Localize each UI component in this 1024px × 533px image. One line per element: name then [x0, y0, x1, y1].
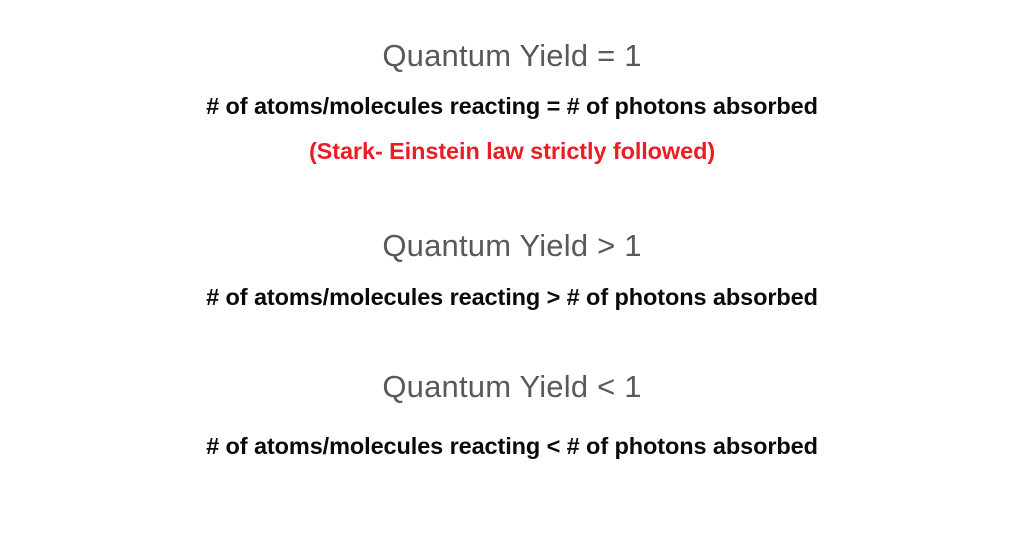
slide-canvas: Quantum Yield = 1 # of atoms/molecules r… — [0, 0, 1024, 533]
quantum-yield-less-block: Quantum Yield < 1 # of atoms/molecules r… — [0, 365, 1024, 463]
quantum-yield-equal-heading: Quantum Yield = 1 — [0, 34, 1024, 78]
quantum-yield-greater-heading: Quantum Yield > 1 — [0, 224, 1024, 268]
quantum-yield-greater-statement: # of atoms/molecules reacting > # of pho… — [0, 280, 1024, 314]
stark-einstein-law-note: (Stark- Einstein law strictly followed) — [0, 134, 1024, 168]
quantum-yield-less-heading: Quantum Yield < 1 — [0, 365, 1024, 409]
quantum-yield-less-statement: # of atoms/molecules reacting < # of pho… — [0, 429, 1024, 463]
quantum-yield-greater-block: Quantum Yield > 1 # of atoms/molecules r… — [0, 224, 1024, 314]
quantum-yield-equal-block: Quantum Yield = 1 # of atoms/molecules r… — [0, 34, 1024, 168]
quantum-yield-equal-statement: # of atoms/molecules reacting = # of pho… — [0, 89, 1024, 123]
